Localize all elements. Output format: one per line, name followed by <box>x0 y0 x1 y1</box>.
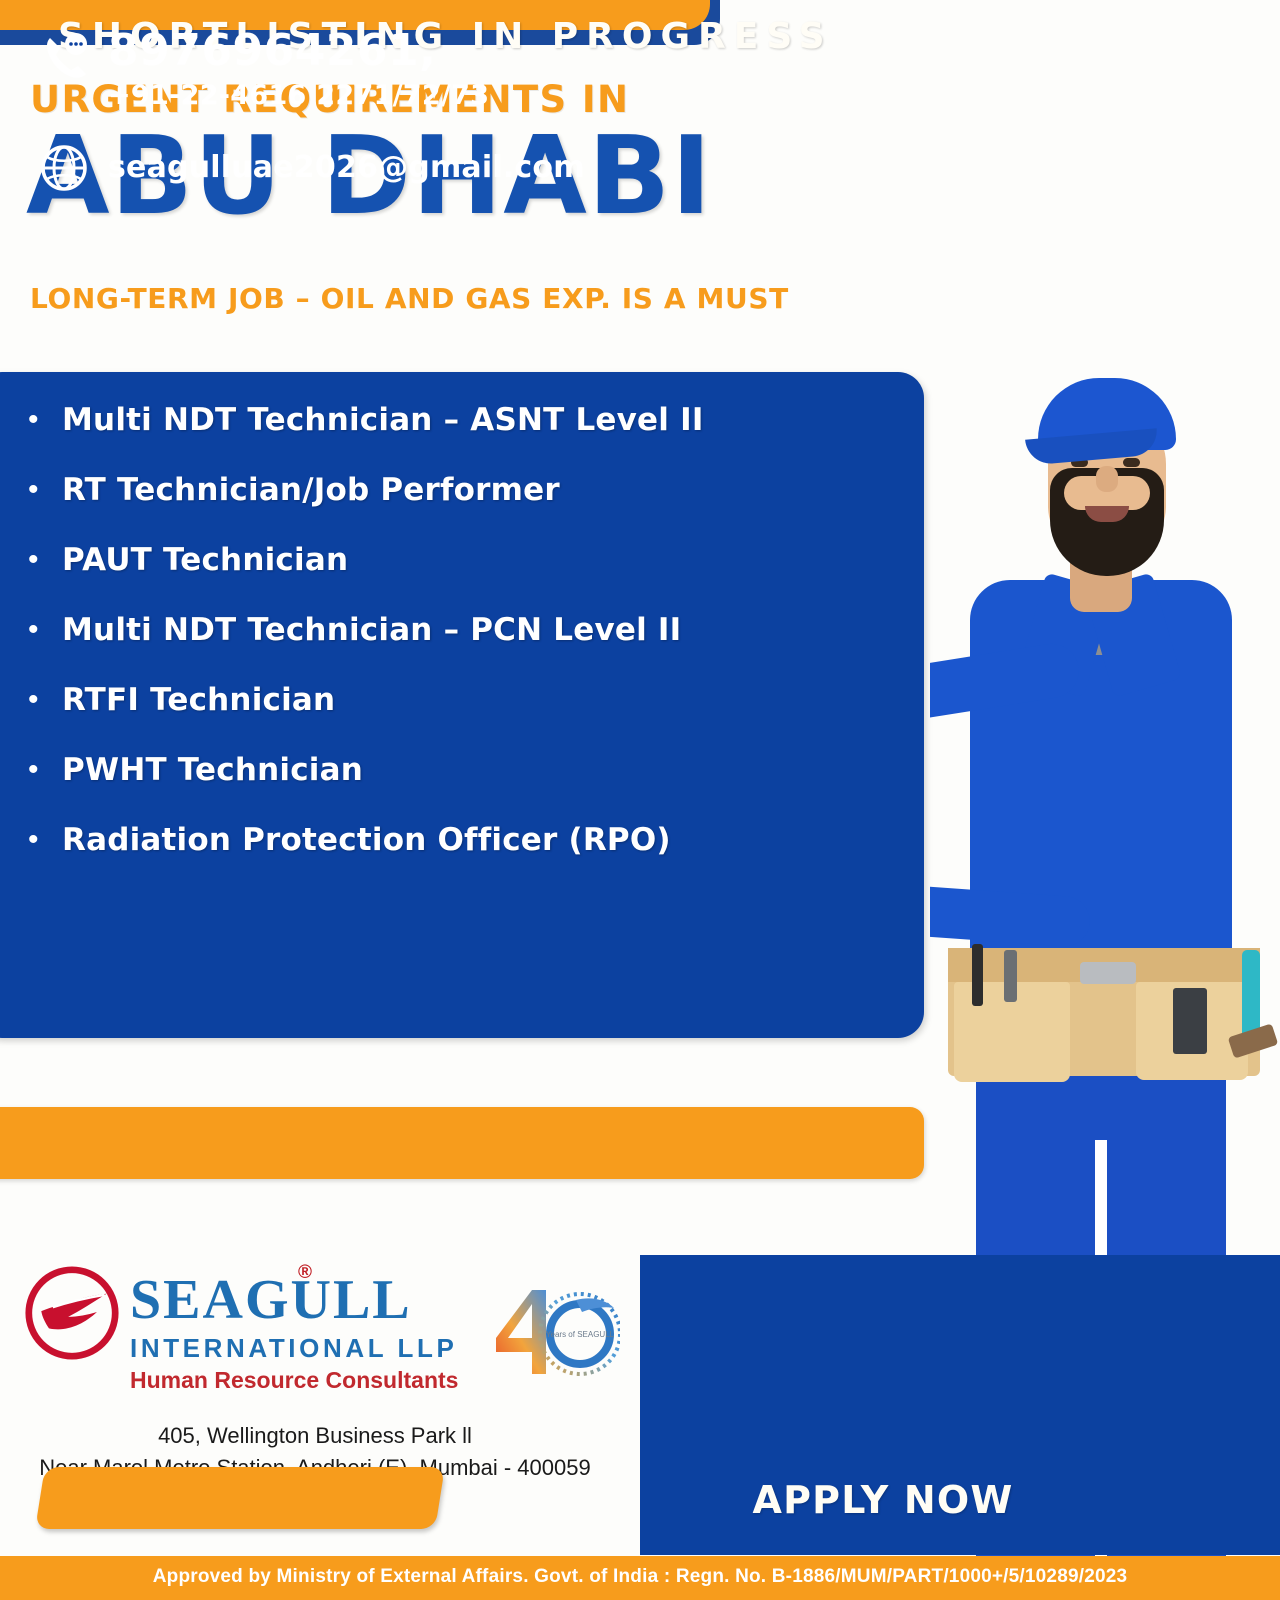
level-tool-icon <box>1242 950 1260 1040</box>
status-badge <box>0 1107 924 1179</box>
address-line-1: 405, Wellington Business Park ll <box>10 1420 620 1452</box>
screwdriver-icon <box>972 944 983 1006</box>
bullet-icon: • <box>28 818 62 862</box>
bullet-icon: • <box>28 398 62 442</box>
list-item: • Radiation Protection Officer (RPO) <box>28 818 908 862</box>
brand-tagline: Human Resource Consultants <box>130 1367 458 1394</box>
contact-panel <box>640 1255 1280 1555</box>
bullet-icon: • <box>28 748 62 792</box>
phone-contact-row[interactable]: 8976964261, +91-22-4616 2271/72/73 <box>36 28 489 111</box>
job-title: PAUT Technician <box>62 538 348 582</box>
anniversary-caption: Years of SEAGULL <box>546 1330 615 1339</box>
globe-icon <box>36 140 92 196</box>
phone-numbers: 8976964261, +91-22-4616 2271/72/73 <box>108 28 489 111</box>
job-title: Radiation Protection Officer (RPO) <box>62 818 671 862</box>
job-title: RT Technician/Job Performer <box>62 468 560 512</box>
list-item: • PAUT Technician <box>28 538 908 582</box>
job-title: PWHT Technician <box>62 748 363 792</box>
seagull-logo-icon <box>24 1265 120 1361</box>
job-title: Multi NDT Technician – PCN Level II <box>62 608 681 652</box>
approval-text: Approved by Ministry of External Affairs… <box>0 1566 1280 1588</box>
poster-subtitle: LONG-TERM JOB – OIL AND GAS EXP. IS A MU… <box>30 282 789 315</box>
bullet-icon: • <box>28 538 62 582</box>
email-contact-row[interactable]: seagulluae2026@gmail.com <box>36 140 585 196</box>
list-item: • RT Technician/Job Performer <box>28 468 908 512</box>
bullet-icon: • <box>28 678 62 722</box>
list-item: • PWHT Technician <box>28 748 908 792</box>
phone-secondary: +91-22-4616 2271/72/73 <box>108 80 489 111</box>
phone-primary: 8976964261, <box>108 25 436 76</box>
anniversary-logo-icon: Years of SEAGULL <box>488 1278 620 1386</box>
brand-wordmark: SEAGULL INTERNATIONAL LLP Human Resource… <box>130 1272 458 1394</box>
bullet-icon: • <box>28 608 62 652</box>
tool-belt-buckle-icon <box>1080 962 1136 984</box>
worker-eye-right <box>1123 458 1140 467</box>
list-item: • RTFI Technician <box>28 678 908 722</box>
hex-key-set-icon <box>1173 988 1207 1054</box>
brand-name: SEAGULL <box>130 1272 458 1328</box>
email-address: seagulluae2026@gmail.com <box>108 140 585 196</box>
phone-icon <box>36 28 92 84</box>
bullet-icon: • <box>28 468 62 512</box>
worker-nose <box>1096 466 1118 492</box>
apply-now-button[interactable] <box>35 1467 445 1529</box>
list-item: • Multi NDT Technician – ASNT Level II <box>28 398 908 442</box>
job-list-panel: • Multi NDT Technician – ASNT Level II •… <box>0 372 924 1038</box>
job-list: • Multi NDT Technician – ASNT Level II •… <box>28 398 908 888</box>
job-title: RTFI Technician <box>62 678 335 722</box>
pliers-icon <box>1004 950 1017 1002</box>
recruitment-poster: URGENT REQUIREMENTS IN ABU DHABI LONG-TE… <box>0 0 1280 1600</box>
brand-entity: INTERNATIONAL LLP <box>130 1333 458 1364</box>
list-item: • Multi NDT Technician – PCN Level II <box>28 608 908 652</box>
registered-trademark-icon: ® <box>298 1262 312 1284</box>
job-title: Multi NDT Technician – ASNT Level II <box>62 398 704 442</box>
